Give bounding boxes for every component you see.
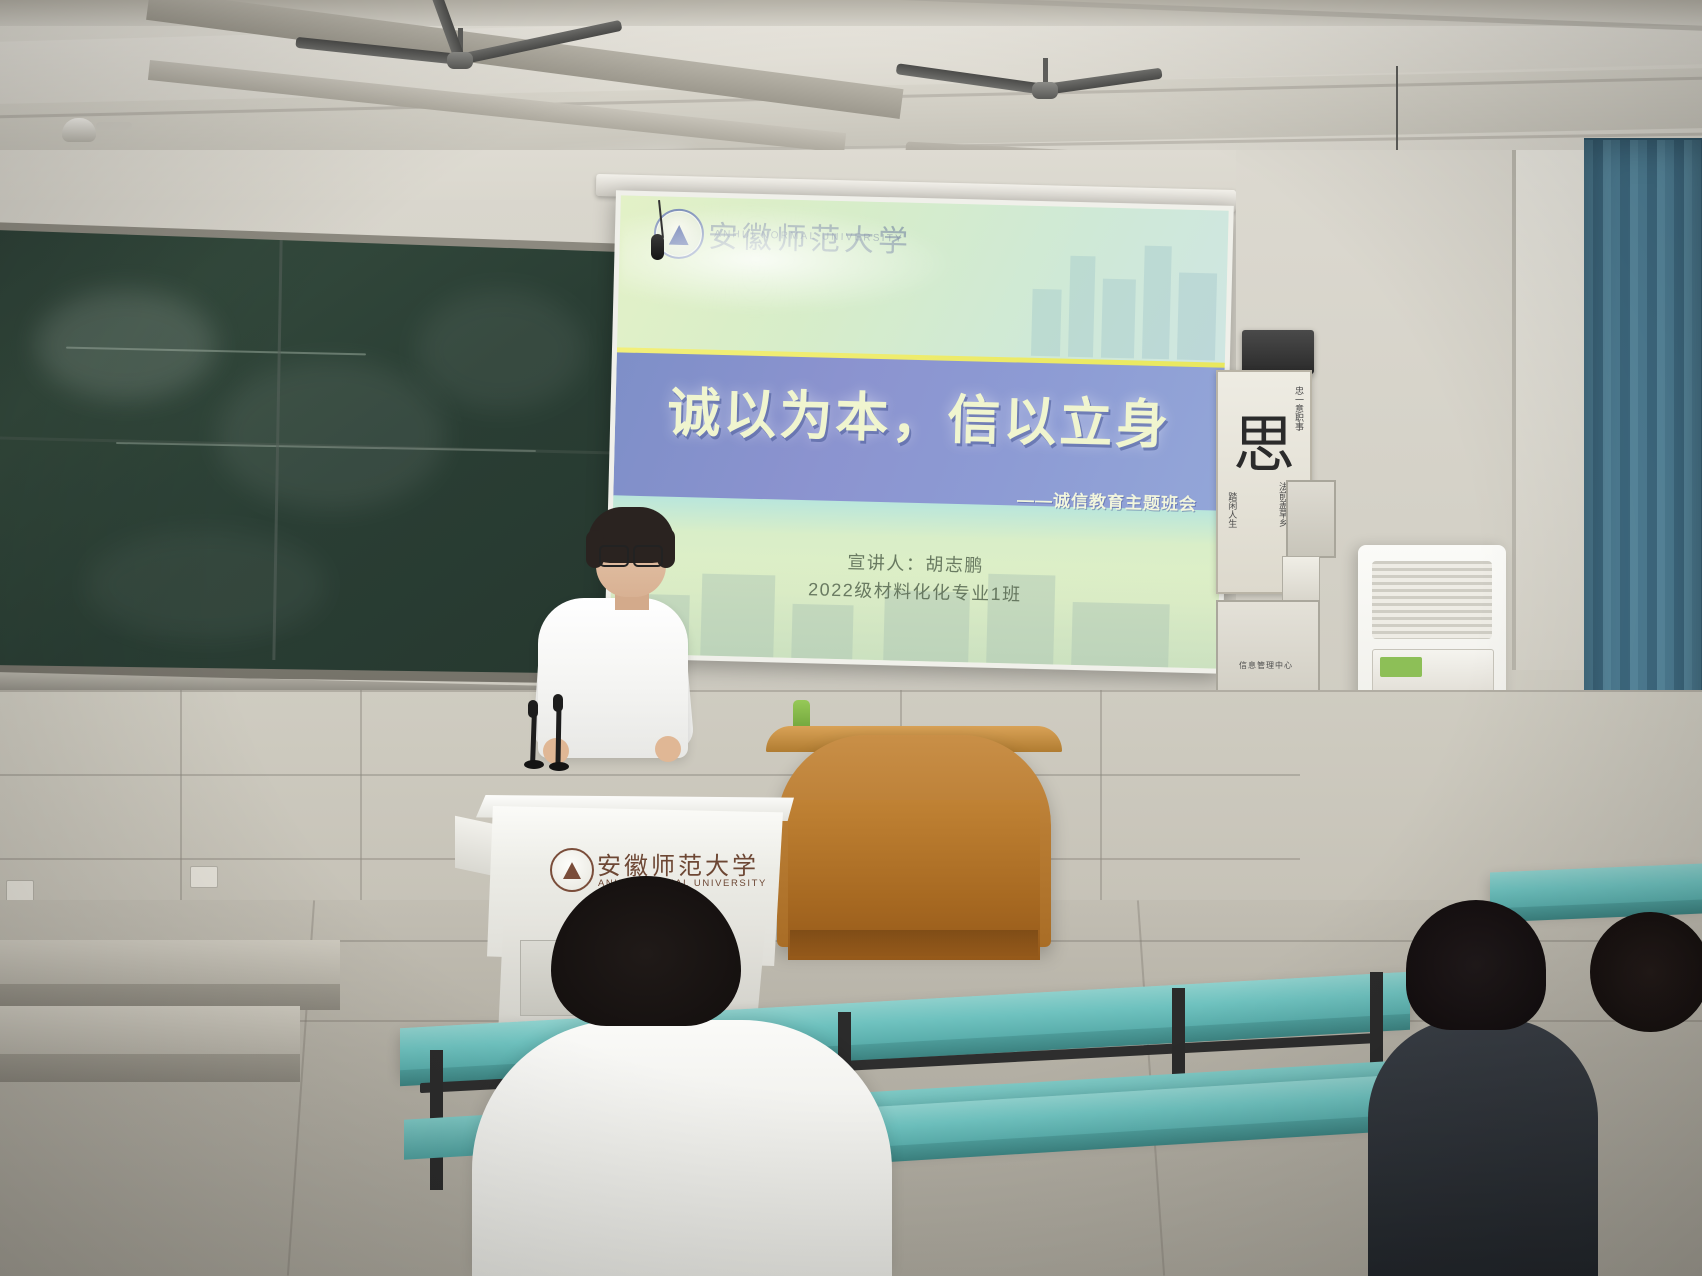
wall-switch-panel[interactable]	[1286, 480, 1336, 558]
chalk-smudge	[216, 360, 446, 510]
glasses-lens-right	[633, 545, 663, 567]
dome-camera-icon-left	[62, 118, 96, 142]
tile-seam	[0, 690, 1702, 692]
calligraphy-side-extra: 踏闲人生	[1226, 492, 1237, 528]
projector-screen[interactable]: 安徽师范大学 ANHUI NORMAL UNIVERSITY 诚以为本，信以立身…	[604, 190, 1234, 673]
crest-emblem	[563, 861, 581, 879]
skyline-block	[1031, 288, 1062, 356]
podium-side-wing	[455, 816, 495, 877]
tile-seam	[180, 690, 182, 930]
audience-member-far-right-head	[1590, 912, 1702, 1032]
ceiling-fan-hub	[1032, 82, 1058, 99]
camera-mount-arm	[96, 122, 132, 130]
skyline-block	[1177, 272, 1216, 360]
presenter-right-hand	[655, 736, 681, 762]
skyline-block	[1142, 246, 1172, 360]
skyline-block	[1101, 279, 1136, 359]
ac-display	[1380, 657, 1422, 677]
microphone-head-left	[528, 700, 538, 718]
ac-vent-grill	[1372, 561, 1492, 639]
podium-university-crest-icon	[550, 848, 594, 892]
platform-step-lower	[0, 1006, 300, 1056]
microphone-icon-hanging	[651, 234, 664, 260]
presentation-slide: 安徽师范大学 ANHUI NORMAL UNIVERSITY 诚以为本，信以立身…	[609, 195, 1228, 668]
platform-step-riser-lower	[0, 1054, 300, 1082]
calligraphy-main-character: 思	[1233, 394, 1295, 484]
slide-header-band: 安徽师范大学 ANHUI NORMAL UNIVERSITY	[617, 195, 1229, 364]
platform-step-upper	[0, 940, 340, 986]
chalkboard	[0, 230, 620, 674]
wall-outlet[interactable]	[6, 880, 34, 902]
audience-member-front-body	[472, 1020, 892, 1276]
ceiling-fan-right	[1040, 58, 1050, 128]
microphone-base-right	[549, 762, 569, 771]
classroom-scene: 安徽师范大学 ANHUI NORMAL UNIVERSITY 诚以为本，信以立身…	[0, 0, 1702, 1276]
audience-member-right-body	[1368, 1018, 1598, 1276]
skyline-block	[1068, 256, 1095, 358]
microphone-head-right	[553, 694, 563, 712]
control-cabinet-label: 信息管理中心	[1220, 660, 1312, 671]
speaker-icon-wall	[1242, 330, 1314, 374]
presenter-glasses	[599, 545, 663, 563]
wall-notice-card	[1282, 556, 1320, 604]
ceiling-fan-rod	[1043, 58, 1048, 84]
tile-seam	[0, 774, 1300, 776]
ceiling-fan-hub	[447, 52, 473, 69]
tile-seam	[1100, 690, 1102, 910]
glasses-lens-left	[599, 545, 629, 567]
window-frame	[1512, 150, 1584, 670]
chalk-smudge	[86, 530, 326, 640]
slide-header-skyline	[1018, 215, 1228, 361]
chalk-smudge	[416, 290, 586, 410]
audience-member-right-head	[1406, 900, 1546, 1030]
crest-emblem	[669, 225, 689, 245]
calligraphy-side-right: 忠一意职事	[1293, 386, 1304, 431]
slide-subtitle: ——诚信教育主题班会	[1017, 486, 1198, 516]
wooden-lectern-shadow	[790, 930, 1038, 956]
ceiling-fan-left	[455, 28, 465, 98]
podium-name-cn: 安徽师范大学	[597, 846, 759, 881]
tile-seam	[360, 690, 362, 930]
microphone-base-left	[524, 760, 544, 769]
slide-main-title: 诚以为本，信以立身	[615, 369, 1225, 460]
campus-building	[792, 604, 854, 659]
wall-outlet[interactable]	[190, 866, 218, 888]
chalk-smudge	[36, 290, 216, 400]
